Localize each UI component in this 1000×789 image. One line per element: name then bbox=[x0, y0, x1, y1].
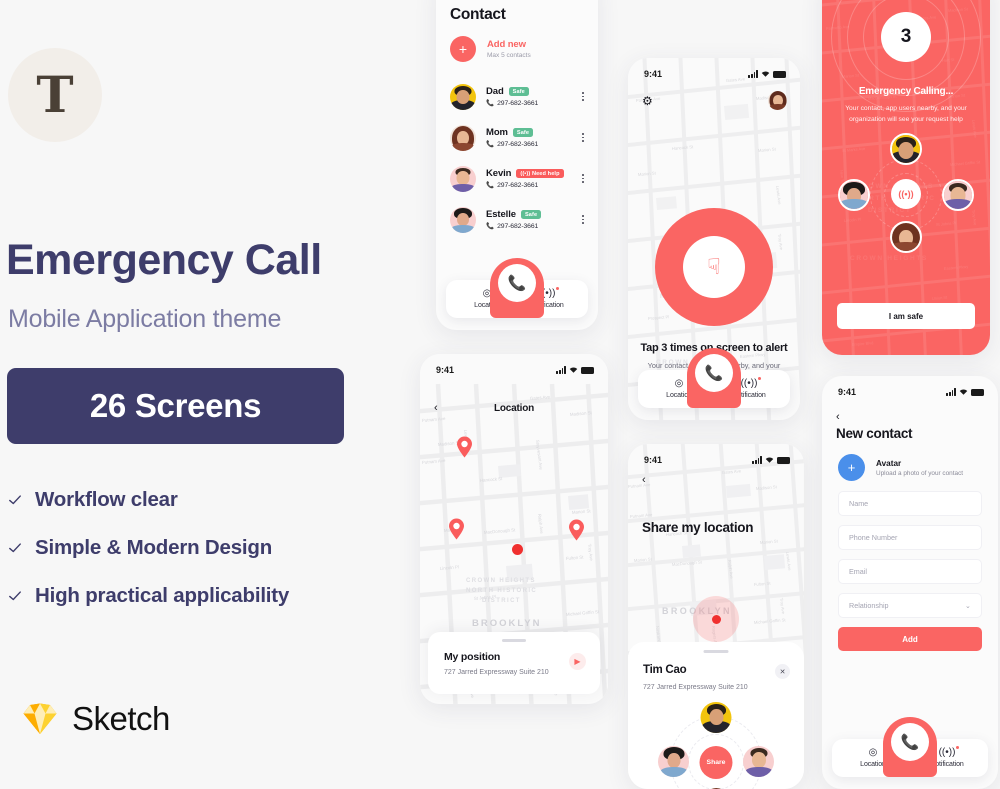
add-new-contact-button[interactable]: + Add new Max 5 contacts bbox=[450, 36, 531, 62]
avatar-label: Avatar bbox=[876, 459, 963, 468]
broadcast-icon: ((•)) bbox=[520, 171, 532, 177]
plus-icon: + bbox=[450, 36, 476, 62]
sos-call-button[interactable]: 📞 bbox=[490, 258, 544, 318]
screen-alert: Gates Ave Madison St Palmetto Ave Hancoc… bbox=[628, 58, 800, 420]
battery-icon bbox=[971, 389, 984, 396]
brand-logo: T bbox=[8, 48, 102, 142]
status-time: 9:41 bbox=[838, 387, 856, 397]
wifi-icon bbox=[959, 388, 968, 396]
email-placeholder: Email bbox=[849, 567, 867, 576]
position-title: My position bbox=[444, 651, 500, 663]
sos-call-button[interactable]: 📞 bbox=[687, 348, 741, 408]
share-screen-title: Share my location bbox=[642, 520, 753, 535]
feature-item: Workflow clear bbox=[8, 476, 398, 524]
shared-contact-address: 727 Jarred Expressway Suite 210 bbox=[643, 684, 748, 691]
tap-hand-icon: ☟ bbox=[683, 236, 745, 298]
current-location-marker bbox=[693, 596, 739, 642]
phone-icon: 📞 bbox=[486, 140, 494, 148]
drag-handle[interactable] bbox=[704, 650, 729, 653]
screens-count-badge: 26 Screens bbox=[7, 368, 344, 444]
location-screen-title: Location bbox=[420, 403, 608, 414]
feature-label: Workflow clear bbox=[35, 488, 178, 512]
i-am-safe-button[interactable]: I am safe bbox=[837, 303, 975, 329]
screen-location: Gates Ave Madison St Putnam Ave Madison … bbox=[420, 354, 608, 704]
add-new-hint: Max 5 contacts bbox=[487, 52, 531, 59]
status-bar: 9:41 bbox=[822, 376, 998, 402]
status-badge: Safe bbox=[509, 87, 529, 97]
svg-text:CROWN HEIGHTS: CROWN HEIGHTS bbox=[466, 578, 536, 584]
status-badge: ((•)) Need help bbox=[516, 169, 563, 179]
status-badge: Safe bbox=[513, 128, 533, 138]
feature-item: High practical applicability bbox=[8, 572, 398, 620]
location-sheet: My position 727 Jarred Expressway Suite … bbox=[428, 632, 600, 694]
avatar[interactable] bbox=[838, 179, 870, 211]
battery-icon bbox=[773, 71, 786, 78]
calling-subtext: Your contact, app users nearby, and your… bbox=[836, 103, 976, 125]
avatar bbox=[450, 166, 476, 192]
map-pin-icon[interactable] bbox=[448, 518, 465, 540]
sketch-credit: Sketch bbox=[22, 700, 170, 738]
contact-phone: 297-682-3661 bbox=[497, 223, 538, 230]
mockup-canvas: T Emergency Call Mobile Application them… bbox=[0, 0, 1000, 789]
sketch-logo-icon bbox=[22, 702, 58, 736]
svg-text:BROOKLYN: BROOKLYN bbox=[472, 618, 542, 629]
promo-panel: T Emergency Call Mobile Application them… bbox=[0, 0, 400, 789]
relationship-select[interactable]: Relationship ⌄ bbox=[838, 593, 982, 618]
avatar-upload-row[interactable]: + Avatar Upload a photo of your contact bbox=[838, 454, 963, 481]
list-item[interactable]: Estelle Safe 📞 297-682-3661 bbox=[450, 199, 588, 240]
location-target-icon: ◎ bbox=[869, 748, 878, 758]
phone-icon: 📞 bbox=[486, 222, 494, 230]
page-subtitle: Mobile Application theme bbox=[8, 305, 388, 334]
wifi-icon bbox=[569, 366, 578, 374]
add-contact-button[interactable]: Add bbox=[838, 627, 982, 651]
contact-menu-icon[interactable] bbox=[578, 174, 588, 182]
broadcast-icon: ((•)) bbox=[741, 379, 758, 389]
check-icon bbox=[8, 493, 22, 507]
screen-share-location: Gates Ave Madison St Putnam Ave Putnam A… bbox=[628, 444, 804, 789]
chevron-down-icon: ⌄ bbox=[965, 601, 971, 610]
screens-count-label: 26 Screens bbox=[90, 387, 261, 425]
check-icon bbox=[8, 541, 22, 555]
calling-heading: Emergency Calling... bbox=[822, 86, 990, 97]
avatar[interactable] bbox=[890, 221, 922, 253]
emergency-call-icon: 📞 bbox=[695, 354, 733, 392]
svg-text:NORTH HISTORIC: NORTH HISTORIC bbox=[466, 588, 537, 594]
status-time: 9:41 bbox=[644, 69, 662, 79]
list-item[interactable]: Mom Safe 📞 297-682-3661 bbox=[450, 117, 588, 158]
feature-label: High practical applicability bbox=[35, 584, 289, 608]
shared-contact-name: Tim Cao bbox=[643, 664, 686, 676]
list-item[interactable]: Dad Safe 📞 297-682-3661 bbox=[450, 76, 588, 117]
contact-phone: 297-682-3661 bbox=[497, 141, 538, 148]
svg-text:Union St: Union St bbox=[932, 295, 949, 301]
share-contact-cluster: Share bbox=[628, 702, 804, 789]
emergency-call-icon: 📞 bbox=[498, 264, 536, 302]
wifi-icon bbox=[765, 456, 774, 464]
navigate-icon[interactable]: ▶ bbox=[569, 653, 586, 670]
battery-icon bbox=[581, 367, 594, 374]
chevron-left-icon[interactable]: ‹ bbox=[642, 474, 646, 486]
avatar[interactable] bbox=[701, 702, 732, 733]
share-button[interactable]: Share bbox=[700, 746, 733, 779]
current-location-dot bbox=[512, 544, 523, 555]
avatar[interactable] bbox=[658, 746, 689, 777]
contact-menu-icon[interactable] bbox=[578, 215, 588, 223]
feature-label: Simple & Modern Design bbox=[35, 536, 272, 560]
sketch-label: Sketch bbox=[72, 700, 170, 738]
svg-text:DISTRICT: DISTRICT bbox=[482, 598, 521, 604]
battery-icon bbox=[777, 457, 790, 464]
logo-letter: T bbox=[36, 70, 73, 120]
avatar bbox=[450, 84, 476, 110]
drag-handle[interactable] bbox=[502, 639, 526, 642]
contact-cluster: ((•)) bbox=[822, 133, 990, 257]
contact-list: Dad Safe 📞 297-682-3661 bbox=[450, 76, 588, 240]
contact-screen-title: Contact bbox=[450, 6, 506, 24]
screen-emergency-calling: Quincy St Gates Ave Madison St Palmetto … bbox=[822, 0, 990, 355]
chevron-left-icon[interactable]: ‹ bbox=[836, 411, 840, 423]
avatar bbox=[450, 207, 476, 233]
signal-bars-icon bbox=[752, 456, 762, 464]
close-icon[interactable]: ✕ bbox=[775, 664, 790, 679]
location-dot bbox=[712, 615, 721, 624]
position-address: 727 Jarred Expressway Suite 210 bbox=[444, 669, 549, 676]
status-bar: 9:41 bbox=[628, 58, 800, 84]
svg-text:Eastern Pkwy: Eastern Pkwy bbox=[944, 264, 969, 271]
name-placeholder: Name bbox=[849, 499, 868, 508]
map-pin-icon[interactable] bbox=[456, 436, 473, 458]
page-title: Emergency Call bbox=[6, 238, 386, 283]
list-item[interactable]: Kevin ((•)) Need help 📞 297-682-3661 bbox=[450, 158, 588, 199]
tab-location-label: Location bbox=[860, 761, 886, 768]
contact-phone: 297-682-3661 bbox=[497, 182, 538, 189]
phone-field[interactable]: Phone Number bbox=[838, 525, 982, 550]
contact-name: Mom bbox=[486, 127, 508, 138]
share-sheet: Tim Cao 727 Jarred Expressway Suite 210 … bbox=[628, 642, 804, 789]
avatar[interactable] bbox=[942, 179, 974, 211]
new-contact-form: Name Phone Number Email Relationship ⌄ A… bbox=[838, 491, 982, 651]
relationship-placeholder: Relationship bbox=[849, 601, 889, 610]
svg-text:Empire Blvd: Empire Blvd bbox=[852, 340, 874, 347]
contact-name: Kevin bbox=[486, 168, 511, 179]
status-bar: 9:41 bbox=[420, 354, 608, 380]
phone-icon: 📞 bbox=[486, 181, 494, 189]
map-pin-icon[interactable] bbox=[568, 519, 585, 541]
screen-contact: Contact + Add new Max 5 contacts bbox=[436, 0, 598, 330]
avatar[interactable] bbox=[743, 746, 774, 777]
avatar[interactable] bbox=[890, 133, 922, 165]
contact-name: Dad bbox=[486, 86, 504, 97]
status-time: 9:41 bbox=[436, 365, 454, 375]
signal-bars-icon bbox=[748, 70, 758, 78]
status-badge: Safe bbox=[521, 210, 541, 220]
countdown-circle: 3 bbox=[881, 12, 931, 62]
contact-menu-icon[interactable] bbox=[578, 92, 588, 100]
wifi-icon bbox=[761, 70, 770, 78]
phone-icon: 📞 bbox=[486, 99, 494, 107]
contact-name: Estelle bbox=[486, 209, 516, 220]
profile-avatar[interactable] bbox=[768, 91, 787, 110]
avatar-hint: Upload a photo of your contact bbox=[876, 470, 963, 477]
broadcast-icon: ((•)) bbox=[939, 748, 956, 758]
phone-placeholder: Phone Number bbox=[849, 533, 897, 542]
countdown-value: 3 bbox=[901, 26, 912, 48]
name-field[interactable]: Name bbox=[838, 491, 982, 516]
contact-phone: 297-682-3661 bbox=[497, 100, 538, 107]
signal-bars-icon bbox=[946, 388, 956, 396]
contact-menu-icon[interactable] bbox=[578, 133, 588, 141]
plus-icon: + bbox=[838, 454, 865, 481]
check-icon bbox=[8, 589, 22, 603]
status-time: 9:41 bbox=[644, 455, 662, 465]
location-target-icon: ◎ bbox=[675, 379, 684, 389]
sos-tap-target[interactable]: ☟ bbox=[655, 208, 773, 326]
signal-bars-icon bbox=[556, 366, 566, 374]
new-contact-title: New contact bbox=[836, 426, 912, 441]
broadcast-icon: ((•)) bbox=[891, 179, 921, 209]
status-bar: 9:41 bbox=[628, 444, 804, 470]
emergency-call-icon: 📞 bbox=[891, 723, 929, 761]
gear-icon[interactable]: ⚙ bbox=[642, 94, 653, 108]
avatar bbox=[450, 125, 476, 151]
feature-list: Workflow clear Simple & Modern Design Hi… bbox=[8, 476, 398, 620]
email-field[interactable]: Email bbox=[838, 559, 982, 584]
add-new-label: Add new bbox=[487, 39, 531, 50]
feature-item: Simple & Modern Design bbox=[8, 524, 398, 572]
screen-new-contact: 9:41 ‹ New contact + Avatar Upload a pho… bbox=[822, 376, 998, 789]
sos-call-button[interactable]: 📞 bbox=[883, 717, 937, 777]
